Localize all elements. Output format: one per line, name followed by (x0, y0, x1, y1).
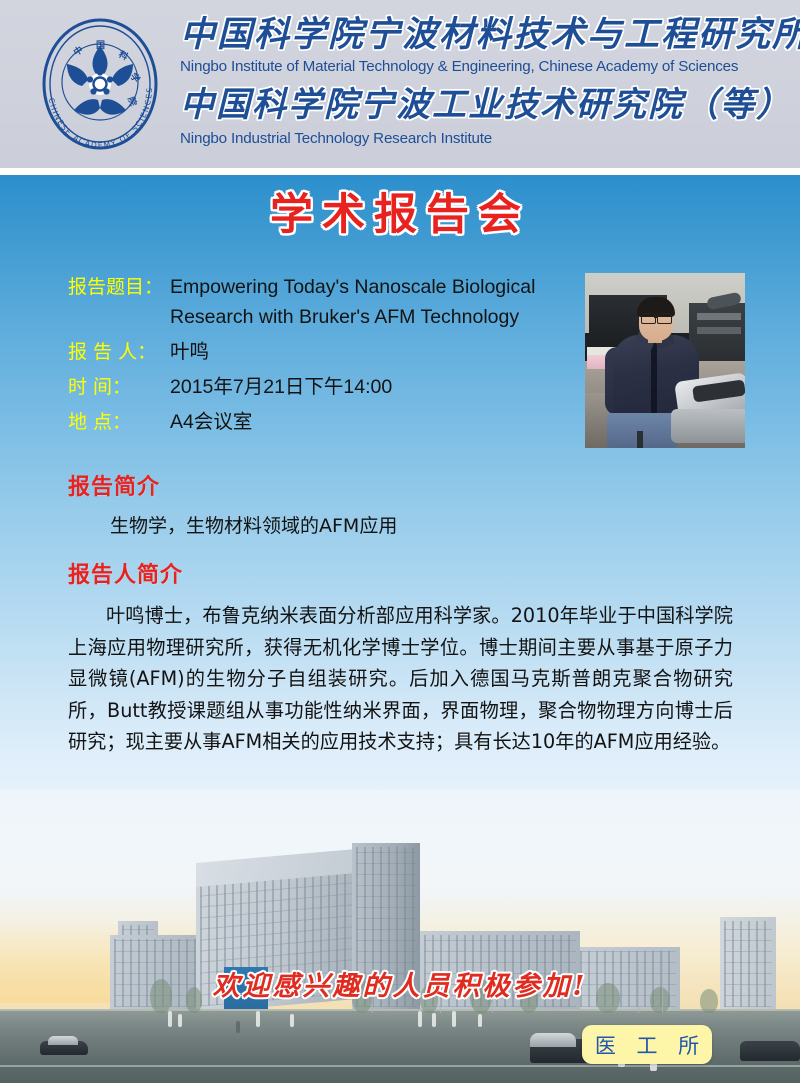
institute-abbreviation-badge: 医 工 所 (582, 1025, 712, 1064)
welcome-message: 欢迎感兴趣的人员积极参加! (0, 968, 800, 1006)
photo-shirt-placket (651, 339, 657, 421)
svg-text:国: 国 (96, 40, 105, 51)
svg-text:院: 院 (125, 95, 139, 107)
detail-label-speaker: 报 告 人： (68, 337, 170, 367)
header-divider (0, 168, 800, 175)
institute-name-block: 中国科学院宁波材料技术与工程研究所 Ningbo Institute of Ma… (180, 12, 785, 162)
scene-pedestrian (452, 1011, 456, 1027)
seminar-poster: 中 国 科 学 院 CHINESE ACADEMY OF SCIENCES 中国… (0, 0, 800, 1083)
svg-text:CHINESE ACADEMY OF SCIENCES: CHINESE ACADEMY OF SCIENCES (47, 86, 154, 150)
scene-car (740, 1041, 800, 1061)
detail-value-topic: Empowering Today's Nanoscale Biological … (170, 272, 535, 332)
scene-pedestrian (256, 1011, 260, 1027)
badge-label: 医 工 所 (588, 1030, 706, 1060)
org-name-cn-line1: 中国科学院宁波材料技术与工程研究所 (180, 14, 785, 56)
org-name-en-line2: Ningbo Industrial Technology Research In… (180, 129, 785, 148)
bio-body: 叶鸣博士，布鲁克纳米表面分析部应用科学家。2010年毕业于中国科学院上海应用物理… (68, 600, 733, 758)
detail-row-time: 时 间： 2015年7月21日下午14:00 (68, 372, 568, 402)
photo-equipment-slot-2 (697, 327, 741, 334)
detail-row-location: 地 点： A4会议室 (68, 407, 568, 437)
detail-value-time: 2015年7月21日下午14:00 (170, 372, 392, 402)
abstract-body: 生物学，生物材料领域的AFM应用 (110, 511, 710, 541)
detail-value-speaker: 叶鸣 (170, 337, 209, 367)
detail-label-time: 时 间： (68, 372, 170, 402)
svg-text:科: 科 (117, 48, 131, 63)
scene-pedestrian (418, 1011, 422, 1027)
scene-pedestrian (290, 1014, 294, 1027)
topic-line-1: Empowering Today's Nanoscale Biological (170, 276, 535, 298)
detail-row-topic: 报告题目： Empowering Today's Nanoscale Biolo… (68, 272, 568, 332)
detail-label-location: 地 点： (68, 407, 170, 437)
bio-heading: 报告人简介 (68, 561, 183, 589)
photo-afm-base (671, 409, 745, 443)
speaker-photo (585, 273, 745, 448)
photo-eyeglass-bridge (654, 316, 657, 318)
scene-car-roof (530, 1033, 576, 1047)
scene-car-roof (48, 1036, 78, 1045)
scene-road-marking (0, 1065, 800, 1067)
detail-label-topic: 报告题目： (68, 272, 170, 302)
scene-pedestrian (432, 1013, 436, 1027)
photo-eyeglass-left (641, 313, 656, 324)
svg-text:中: 中 (71, 44, 85, 59)
cas-logo-icon: 中 国 科 学 院 CHINESE ACADEMY OF SCIENCES (30, 14, 170, 154)
event-details-block: 报告题目： Empowering Today's Nanoscale Biolo… (68, 272, 568, 442)
photo-eyeglass-right (657, 313, 672, 324)
detail-row-speaker: 报 告 人： 叶鸣 (68, 337, 568, 367)
photo-equipment-slot-1 (697, 313, 741, 320)
photo-stool-leg (637, 431, 643, 448)
scene-pedestrian (178, 1014, 182, 1027)
institute-header-band: 中 国 科 学 院 CHINESE ACADEMY OF SCIENCES 中国… (0, 0, 800, 168)
scene-pedestrian (236, 1021, 240, 1033)
org-name-cn-line2: 中国科学院宁波工业技术研究院（等） (180, 84, 785, 126)
scene-pedestrian (168, 1011, 172, 1027)
org-name-en-line1: Ningbo Institute of Material Technology … (180, 57, 785, 76)
topic-line-2: Research with Bruker's AFM Technology (170, 302, 535, 332)
detail-value-location: A4会议室 (170, 407, 252, 437)
scene-pedestrian (478, 1014, 482, 1027)
abstract-heading: 报告简介 (68, 473, 160, 501)
page-title: 学术报告会 (0, 190, 800, 240)
